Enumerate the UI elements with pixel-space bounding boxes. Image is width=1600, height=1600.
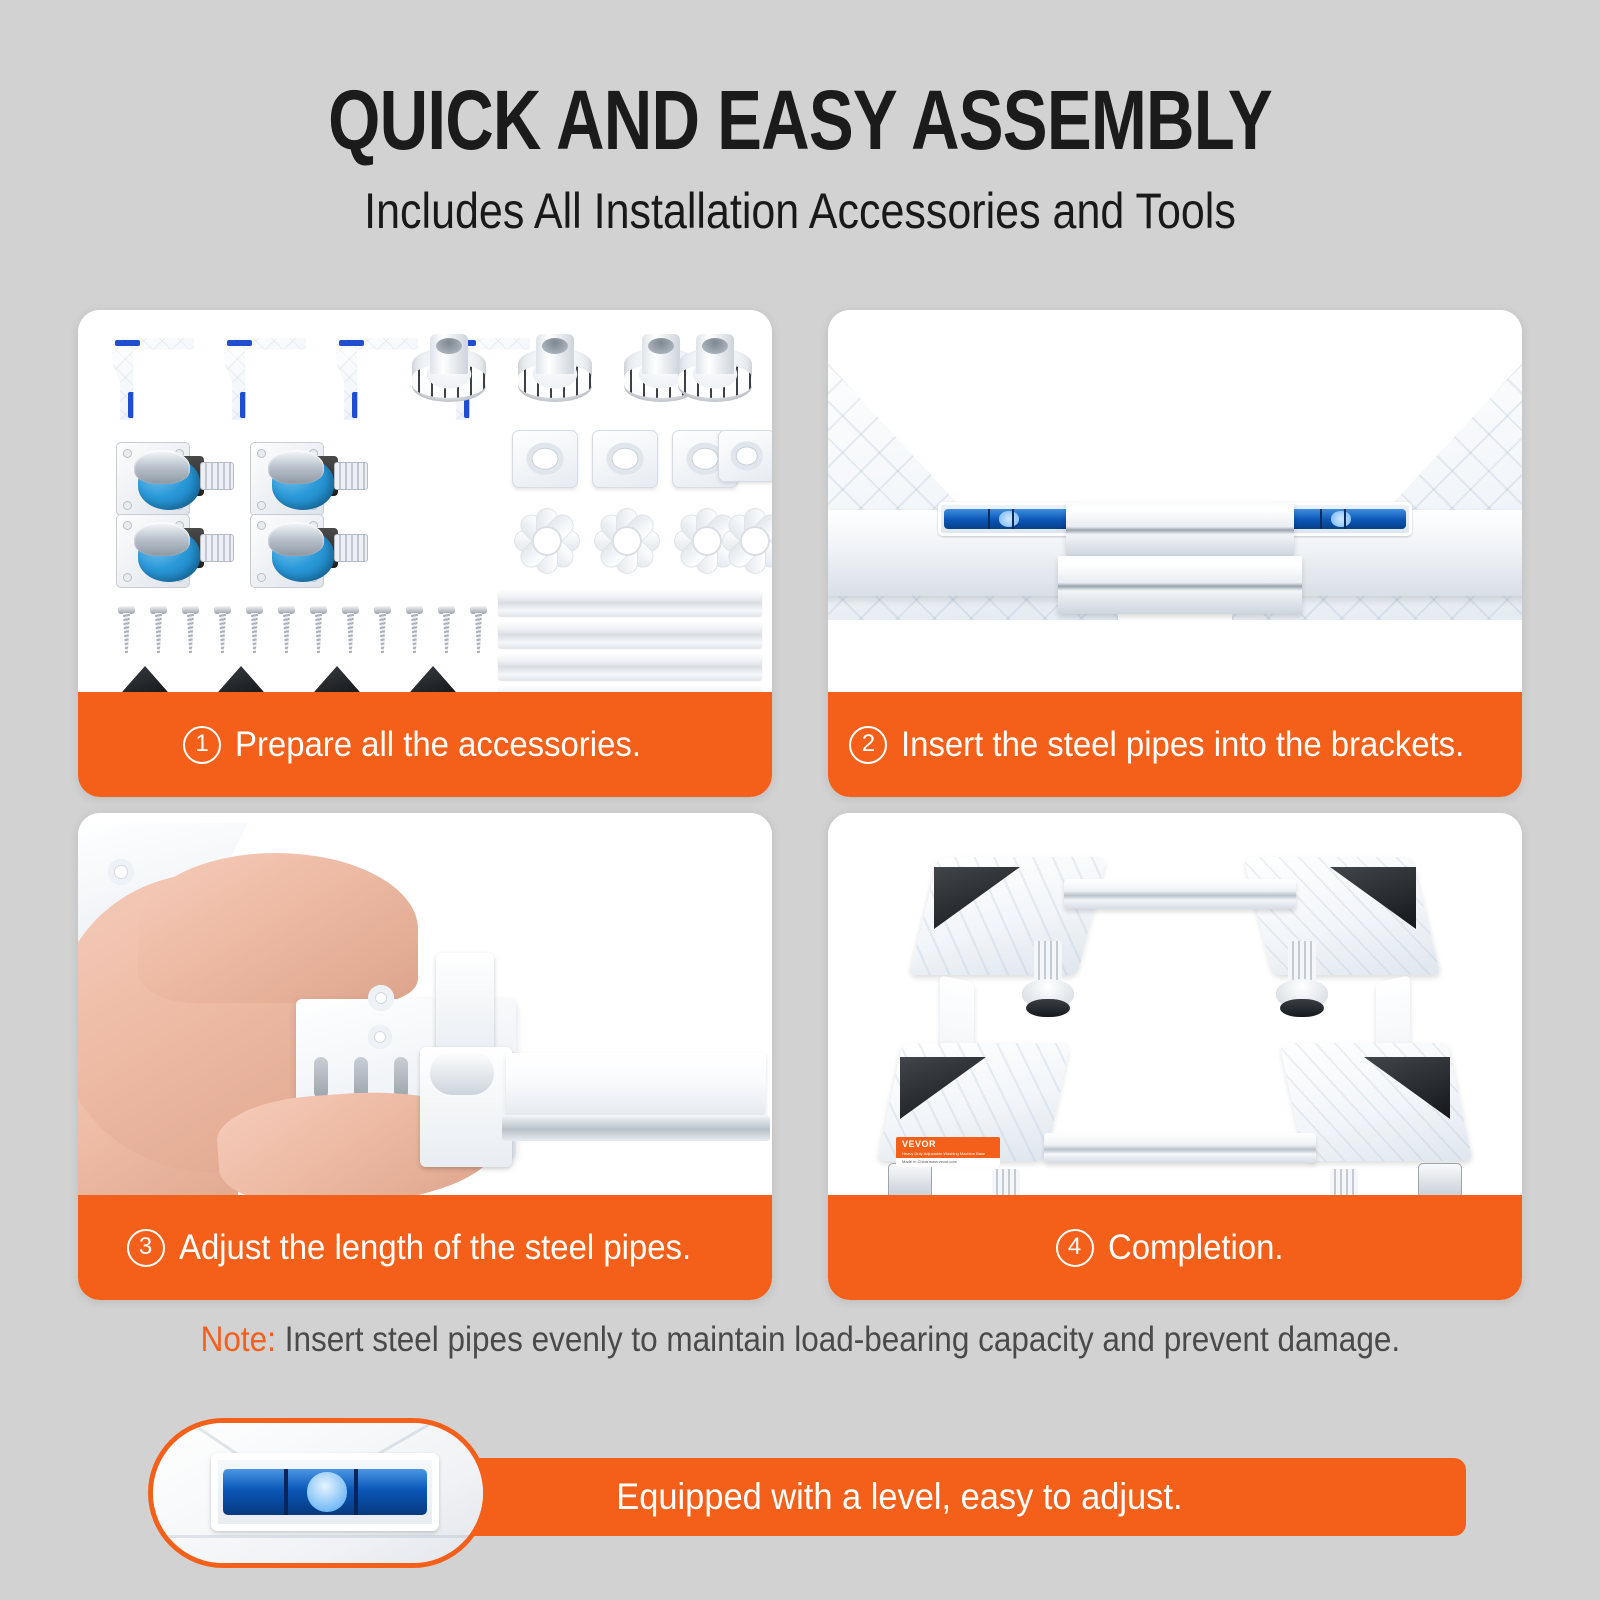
screw-part [310, 606, 328, 654]
step-number-2: 2 [849, 726, 887, 764]
steel-pipe-front [1044, 1133, 1316, 1163]
screw-part [374, 606, 392, 654]
locking-clip-lever [436, 953, 494, 1059]
screw-part [182, 606, 200, 654]
steel-pipe-part [498, 590, 762, 616]
step-card-3: 3 Adjust the length of the steel pipes. [78, 813, 772, 1300]
step-caption-1: 1 Prepare all the accessories. [78, 692, 772, 797]
caster-front-right [1412, 1163, 1468, 1195]
note-text: Insert steel pipes evenly to maintain lo… [284, 1320, 1399, 1359]
step-card-4: VEVOR Heavy Duty Adjustable Washing Mach… [828, 813, 1522, 1300]
square-base-part [592, 430, 658, 488]
steel-pipe-back [1064, 879, 1296, 909]
adjustable-foot-back-right [1276, 941, 1328, 1019]
hand-adjust-photo [78, 813, 772, 1195]
vevor-label-line3: Made In China www.vevor.com [902, 1159, 957, 1164]
accessories-photo [78, 310, 772, 692]
step-caption-text-3: Adjust the length of the steel pipes. [179, 1228, 691, 1268]
step-number-1: 1 [183, 726, 221, 764]
screw-part [246, 606, 264, 654]
rubber-pad-part [300, 666, 374, 692]
bubble-level-thumbnail [148, 1418, 488, 1568]
caster-wheel-part [250, 442, 372, 518]
step-caption-text-1: Prepare all the accessories. [235, 725, 641, 765]
bracket-pipe-photo [828, 310, 1522, 692]
caster-wheel-part [250, 514, 372, 590]
adjustable-foot-front-right [1318, 1169, 1370, 1195]
lock-nut-part [514, 508, 580, 574]
foot-cup-part [678, 334, 752, 406]
vevor-label-line2: Heavy Duty Adjustable Washing Machine Ba… [902, 1151, 985, 1157]
step-caption-4: 4 Completion. [828, 1195, 1522, 1300]
screw-part [470, 606, 488, 654]
rubber-pad-part [108, 666, 182, 692]
caster-wheel-part [116, 514, 238, 590]
infographic-page: QUICK AND EASY ASSEMBLY Includes All Ins… [0, 0, 1600, 1600]
steel-pipe-inserted [506, 1053, 766, 1115]
corner-bracket-part [112, 338, 194, 420]
assembled-base-photo: VEVOR Heavy Duty Adjustable Washing Mach… [828, 813, 1522, 1195]
step-caption-2: 2 Insert the steel pipes into the bracke… [828, 692, 1522, 797]
caster-wheel-part [116, 442, 238, 518]
step-card-2: 2 Insert the steel pipes into the bracke… [828, 310, 1522, 797]
bubble-level-left [938, 502, 1080, 536]
screw-part [342, 606, 360, 654]
lock-nut-part [722, 508, 772, 574]
steel-pipe-part [498, 654, 762, 680]
foot-cup-part [518, 334, 592, 406]
vevor-label: VEVOR Heavy Duty Adjustable Washing Mach… [896, 1137, 1000, 1167]
lock-nut-part [594, 508, 660, 574]
page-subtitle: Includes All Installation Accessories an… [112, 182, 1488, 240]
step-card-1: 1 Prepare all the accessories. [78, 310, 772, 797]
steel-pipe-lower [1058, 556, 1302, 614]
screw-part [406, 606, 424, 654]
bracket-boss-upper [368, 985, 394, 1011]
header: QUICK AND EASY ASSEMBLY Includes All Ins… [0, 76, 1600, 240]
note-label: Note: [200, 1320, 275, 1359]
rubber-pad-part [204, 666, 278, 692]
step-caption-3: 3 Adjust the length of the steel pipes. [78, 1195, 772, 1300]
level-feature-banner: Equipped with a level, easy to adjust. [148, 1418, 1466, 1568]
hand-knuckles [138, 853, 418, 1003]
caster-front-left [882, 1163, 938, 1195]
step-number-4: 4 [1056, 1229, 1094, 1267]
clip-pivot [430, 1051, 494, 1095]
note-line: Note: Insert steel pipes evenly to maint… [0, 1320, 1600, 1360]
adjustable-foot-front-left [980, 1169, 1032, 1195]
foot-cup-part [412, 334, 486, 406]
steel-pipe-part [498, 622, 762, 648]
steel-pipe-upper [1066, 502, 1294, 556]
step-caption-text-2: Insert the steel pipes into the brackets… [901, 725, 1464, 765]
page-title: QUICK AND EASY ASSEMBLY [160, 76, 1440, 164]
washing-machine-base: VEVOR Heavy Duty Adjustable Washing Mach… [872, 851, 1478, 1195]
banner-text: Equipped with a level, easy to adjust. [616, 1476, 1182, 1518]
vevor-brand-name: VEVOR [902, 1139, 936, 1149]
screw-part [150, 606, 168, 654]
corner-bracket-part [224, 338, 306, 420]
step-number-3: 3 [127, 1229, 165, 1267]
adjustable-foot-back-left [1022, 941, 1074, 1019]
rubber-pad-part [396, 666, 470, 692]
corner-bracket-part [336, 338, 418, 420]
bracket-hole [108, 859, 134, 885]
screw-part [118, 606, 136, 654]
screw-part [438, 606, 456, 654]
steel-pipe-edge [502, 1115, 770, 1141]
square-base-part [718, 430, 772, 482]
steps-grid: 1 Prepare all the accessories. [78, 310, 1522, 1300]
bracket-boss-lower [368, 1025, 392, 1049]
square-base-part [512, 430, 578, 488]
screw-part [214, 606, 232, 654]
step-caption-text-4: Completion. [1108, 1228, 1284, 1268]
screw-part [278, 606, 296, 654]
